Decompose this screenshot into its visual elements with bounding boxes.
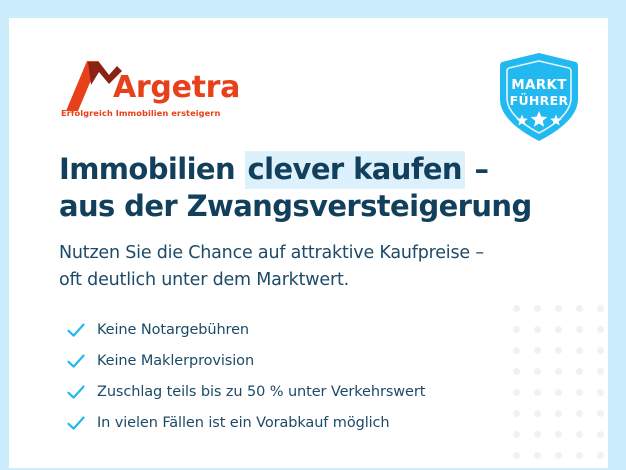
dot-grid-dot <box>555 305 562 312</box>
dot-grid-dot <box>534 326 541 333</box>
page-title: Immobilien clever kaufen – aus der Zwang… <box>59 151 529 225</box>
dot-grid-dot <box>597 431 604 438</box>
subtitle-line-1: Nutzen Sie die Chance auf attraktive Kau… <box>59 240 539 267</box>
dot-grid-dot <box>555 389 562 396</box>
subtitle-line-2: oft deutlich unter dem Marktwert. <box>59 267 539 294</box>
list-item-label: In vielen Fällen ist ein Vorabkauf mögli… <box>97 415 390 431</box>
dot-grid-decoration <box>513 305 608 468</box>
check-icon <box>65 381 87 403</box>
headline-part-before: Immobilien <box>59 152 245 186</box>
dot-grid-dot <box>534 452 541 459</box>
dot-grid-dot <box>597 410 604 417</box>
list-item-label: Keine Maklerprovision <box>97 353 254 369</box>
headline-line-1: Immobilien clever kaufen – <box>59 151 529 188</box>
badge-line-1: MARKT <box>496 77 582 93</box>
dot-grid-dot <box>555 326 562 333</box>
dot-grid-dot <box>576 305 583 312</box>
list-item: Zuschlag teils bis zu 50 % unter Verkehr… <box>65 376 515 407</box>
dot-grid-dot <box>576 368 583 375</box>
dot-grid-dot <box>597 368 604 375</box>
check-icon <box>65 350 87 372</box>
list-item-label: Zuschlag teils bis zu 50 % unter Verkehr… <box>97 384 425 400</box>
promo-page: Argetra Erfolgreich Immobilien ersteiger… <box>0 0 626 470</box>
logo-wordmark: Argetra <box>113 73 240 103</box>
dot-grid-dot <box>576 431 583 438</box>
check-icon <box>65 412 87 434</box>
dot-grid-dot <box>534 347 541 354</box>
dot-grid-dot <box>597 347 604 354</box>
dot-grid-dot <box>576 410 583 417</box>
dot-grid-dot <box>597 305 604 312</box>
dot-grid-dot <box>555 410 562 417</box>
dot-grid-dot <box>597 326 604 333</box>
dot-grid-dot <box>576 347 583 354</box>
dot-grid-dot <box>555 452 562 459</box>
list-item: In vielen Fällen ist ein Vorabkauf mögli… <box>65 407 515 438</box>
promo-card: Argetra Erfolgreich Immobilien ersteiger… <box>9 18 608 468</box>
list-item: Keine Maklerprovision <box>65 345 515 376</box>
badge-line-2: FÜHRER <box>496 93 582 108</box>
dot-grid-dot <box>576 389 583 396</box>
dot-grid-dot <box>576 452 583 459</box>
market-leader-badge: MARKT FÜHRER <box>496 51 582 143</box>
dot-grid-dot <box>597 389 604 396</box>
dot-grid-dot <box>513 452 520 459</box>
logo-tagline: Erfolgreich Immobilien ersteigern <box>61 108 220 118</box>
dot-grid-dot <box>534 389 541 396</box>
dot-grid-dot <box>576 326 583 333</box>
dot-grid-dot <box>555 347 562 354</box>
list-item: Keine Notargebühren <box>65 314 515 345</box>
check-icon <box>65 319 87 341</box>
dot-grid-dot <box>555 368 562 375</box>
page-subtitle: Nutzen Sie die Chance auf attraktive Kau… <box>59 240 539 293</box>
badge-stars-icon <box>496 110 582 128</box>
dot-grid-dot <box>513 305 520 312</box>
list-item-label: Keine Notargebühren <box>97 322 249 338</box>
dot-grid-dot <box>534 368 541 375</box>
headline-part-after: – <box>465 152 488 186</box>
dot-grid-dot <box>534 410 541 417</box>
headline-line-2: aus der Zwangsversteigerung <box>59 188 529 225</box>
dot-grid-dot <box>597 452 604 459</box>
headline-highlight: clever kaufen <box>245 151 465 189</box>
benefit-list: Keine Notargebühren Keine Maklerprovisio… <box>65 314 515 438</box>
dot-grid-dot <box>534 431 541 438</box>
dot-grid-dot <box>534 305 541 312</box>
argetra-logo: Argetra Erfolgreich Immobilien ersteiger… <box>59 61 259 123</box>
dot-grid-dot <box>555 431 562 438</box>
